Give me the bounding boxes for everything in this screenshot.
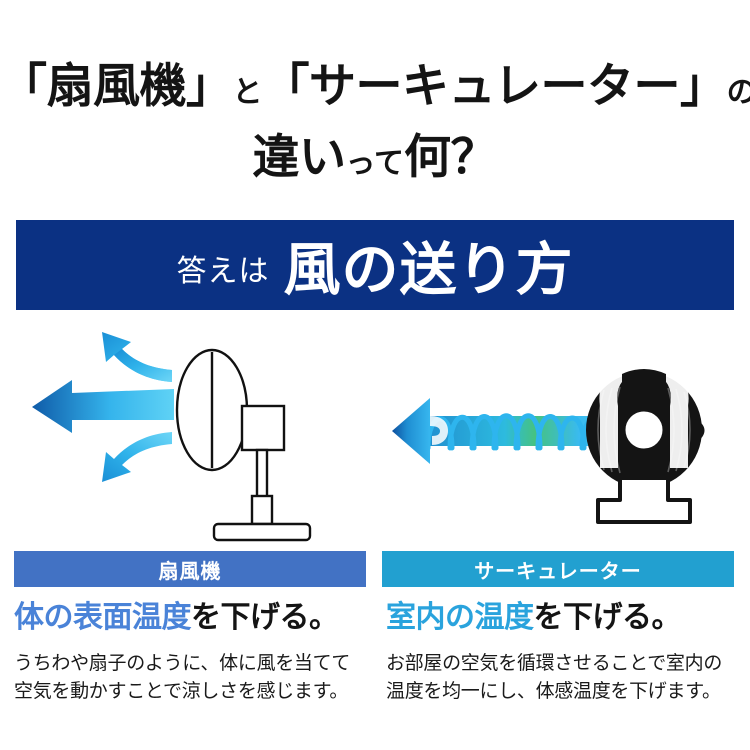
answer-banner: 答えは 風の送り方 xyxy=(16,220,734,310)
circulator-illustration xyxy=(382,318,734,548)
fan-illustration-svg xyxy=(14,318,366,548)
circulator-stand xyxy=(598,478,690,522)
infographic-page: 「扇風機」と「サーキュレーター」の 違いって何？ 答えは 風の送り方 xyxy=(0,0,750,750)
body-text-fan-line-1: うちわや扇子のように、体に風を当てて xyxy=(14,650,374,678)
heading-fan-accent: 体の表面温度 xyxy=(14,601,191,634)
body-text-circulator-line-2: 温度を均一にし、体感温度を下げます。 xyxy=(386,678,746,706)
fan-pole-collar xyxy=(252,496,272,524)
heading-circulator-plain: を下げる。 xyxy=(534,601,682,634)
circulator-device xyxy=(586,369,702,522)
fan-base xyxy=(214,524,310,540)
headline-line-1: 「扇風機」と「サーキュレーター」の xyxy=(0,62,750,109)
headline-line-2: 違いって何？ xyxy=(0,133,750,180)
heading-fan: 体の表面温度を下げる。 xyxy=(14,598,370,638)
fan-airflow-arrow-upper xyxy=(102,332,172,382)
label-bar-circulator: サーキュレーター xyxy=(382,551,734,587)
fan-airflow-arrow-main xyxy=(32,380,174,433)
headline-question-mark: ？ xyxy=(451,130,498,183)
headline-particle-no: の xyxy=(727,76,750,109)
fan-device xyxy=(177,350,310,540)
banner-lead-text: 答えは xyxy=(177,246,270,290)
headline-particle-tte: って xyxy=(346,147,405,180)
heading-fan-plain: を下げる。 xyxy=(191,601,339,634)
label-bar-fan: 扇風機 xyxy=(14,551,366,587)
circulator-illustration-svg xyxy=(382,318,734,548)
headline-word-what: 何 xyxy=(404,130,451,183)
headline-word-difference: 違い xyxy=(253,130,346,183)
label-bar-circulator-text: サーキュレーター xyxy=(474,555,642,584)
body-text-circulator-line-1: お部屋の空気を循環させることで室内の xyxy=(386,650,746,678)
fan-motor-housing xyxy=(242,406,284,450)
fan-airflow-arrow-lower xyxy=(102,432,172,482)
heading-circulator: 室内の温度を下げる。 xyxy=(386,598,742,638)
body-text-fan-line-2: 空気を動かすことで涼しさを感じます。 xyxy=(14,678,374,706)
headline-term-circulator: 「サーキュレーター」 xyxy=(263,59,727,112)
banner-answer-text: 風の送り方 xyxy=(284,224,574,306)
headline-term-fan: 「扇風機」 xyxy=(0,59,233,112)
heading-circulator-accent: 室内の温度 xyxy=(386,601,534,634)
body-text-fan: うちわや扇子のように、体に風を当てて 空気を動かすことで涼しさを感じます。 xyxy=(14,650,374,706)
fan-illustration xyxy=(14,318,366,548)
headline-particle-to: と xyxy=(233,76,263,109)
label-bar-fan-text: 扇風機 xyxy=(159,555,222,584)
body-text-circulator: お部屋の空気を循環させることで室内の 温度を均一にし、体感温度を下げます。 xyxy=(386,650,746,706)
illustration-area xyxy=(0,318,750,548)
